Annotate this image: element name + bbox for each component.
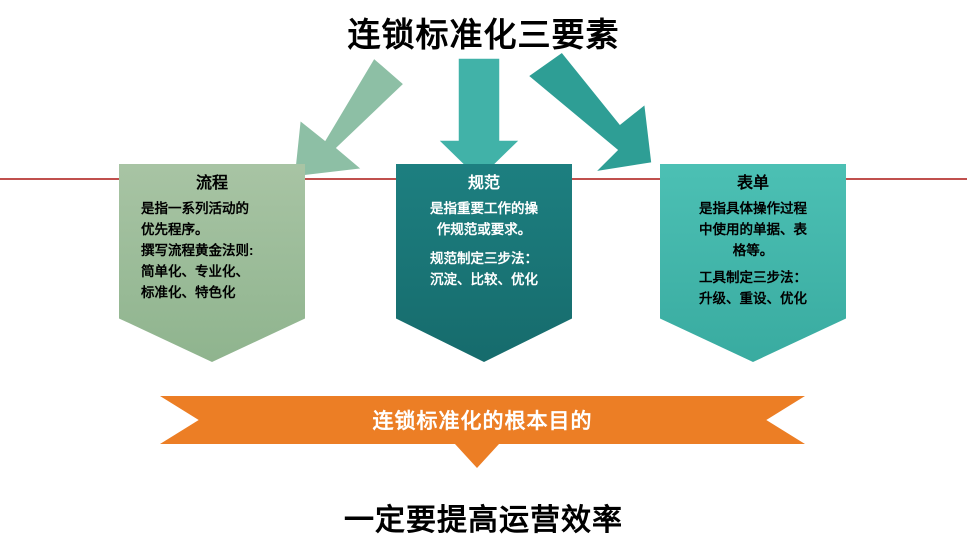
element-card-liucheng: 流程 是指一系列活动的 优先程序。 撰写流程黄金法则: 简单化、专业化、 标准化… <box>119 164 305 362</box>
element-card-guifan: 规范 是指重要工作的操 作规范或要求。 规范制定三步法： 沉淀、比较、优化 <box>396 164 572 362</box>
card-line: 作规范或要求。 <box>396 220 572 241</box>
card-title-liucheng: 流程 <box>119 174 305 193</box>
purpose-banner: 连锁标准化的根本目的 <box>160 396 805 444</box>
card-line: 优先程序。 <box>119 220 305 241</box>
card-line: 是指重要工作的操 <box>396 199 572 220</box>
card-line: 格等。 <box>660 241 846 262</box>
banner-down-arrow-icon <box>455 444 499 468</box>
arrow-to-biaodan <box>528 52 652 172</box>
purpose-banner-label: 连锁标准化的根本目的 <box>373 405 593 435</box>
card-line: 升级、重设、优化 <box>660 289 846 310</box>
element-card-biaodan: 表单 是指具体操作过程 中使用的单据、表 格等。 工具制定三步法： 升级、重设、… <box>660 164 846 362</box>
diagram-canvas: 连锁标准化三要素 流程 是指一系列活动的 优先程序。 撰写流程黄金法则: 简单化… <box>0 0 967 545</box>
arrow-to-guifan <box>438 58 520 180</box>
arrow-to-liucheng <box>294 58 404 177</box>
card-line: 规范制定三步法： <box>396 249 572 270</box>
conclusion-text: 一定要提高运营效率 <box>0 495 967 539</box>
card-line: 沉淀、比较、优化 <box>396 270 572 291</box>
card-line: 标准化、特色化 <box>119 283 305 304</box>
card-line: 中使用的单据、表 <box>660 220 846 241</box>
card-title-guifan: 规范 <box>396 174 572 193</box>
page-title: 连锁标准化三要素 <box>0 8 967 56</box>
card-line: 是指一系列活动的 <box>119 199 305 220</box>
card-line: 工具制定三步法： <box>660 268 846 289</box>
card-line: 是指具体操作过程 <box>660 199 846 220</box>
card-title-biaodan: 表单 <box>660 174 846 193</box>
card-line: 撰写流程黄金法则: <box>119 241 305 262</box>
card-line: 简单化、专业化、 <box>119 262 305 283</box>
